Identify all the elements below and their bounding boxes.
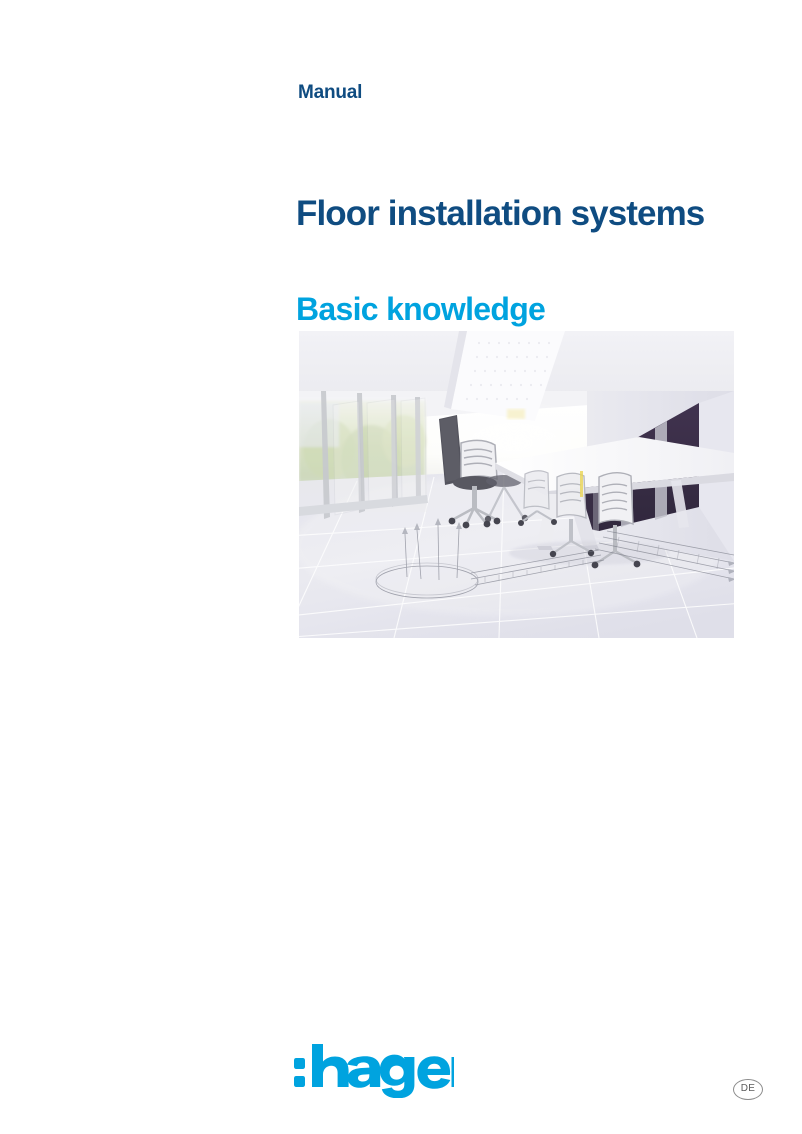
office-interior-illustration: [299, 331, 734, 638]
hager-logo-mark: [292, 1040, 454, 1098]
document-kicker: Manual: [298, 83, 362, 104]
cover-page: Manual Floor installation systems Basic …: [0, 0, 802, 1134]
cover-image: [299, 331, 734, 638]
page-title: Floor installation systems: [296, 196, 704, 233]
page-subtitle: Basic knowledge: [296, 293, 545, 327]
hager-logo: [292, 1040, 454, 1098]
language-badge: DE: [733, 1079, 763, 1100]
